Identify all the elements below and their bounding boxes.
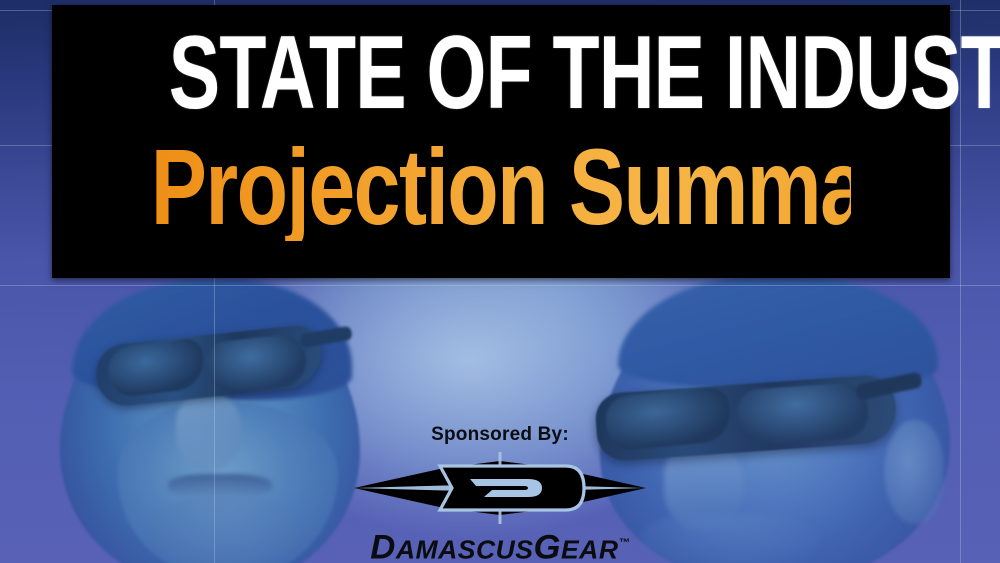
sponsored-by-label: Sponsored By: (0, 424, 1000, 446)
wordmark-g: G (533, 528, 560, 563)
wordmark-d: D (370, 528, 396, 563)
page-subtitle: Projection Summary (151, 133, 851, 241)
damascusgear-logo (352, 452, 648, 524)
sponsor-block: Sponsored By: DAMASCUSGEAR™ (0, 424, 1000, 563)
slide-canvas: STATE OF THE INDUSTRY Projection Summary… (0, 0, 1000, 563)
wordmark-amascus: AMASCUS (396, 534, 534, 563)
trademark-symbol: ™ (619, 537, 630, 549)
wordmark-ear: EAR (561, 534, 619, 563)
damascusgear-wordmark: DAMASCUSGEAR™ (0, 526, 1000, 563)
page-title: STATE OF THE INDUSTRY (169, 21, 834, 125)
damascusgear-logo-icon (352, 452, 648, 524)
title-plate: STATE OF THE INDUSTRY Projection Summary (52, 5, 950, 278)
